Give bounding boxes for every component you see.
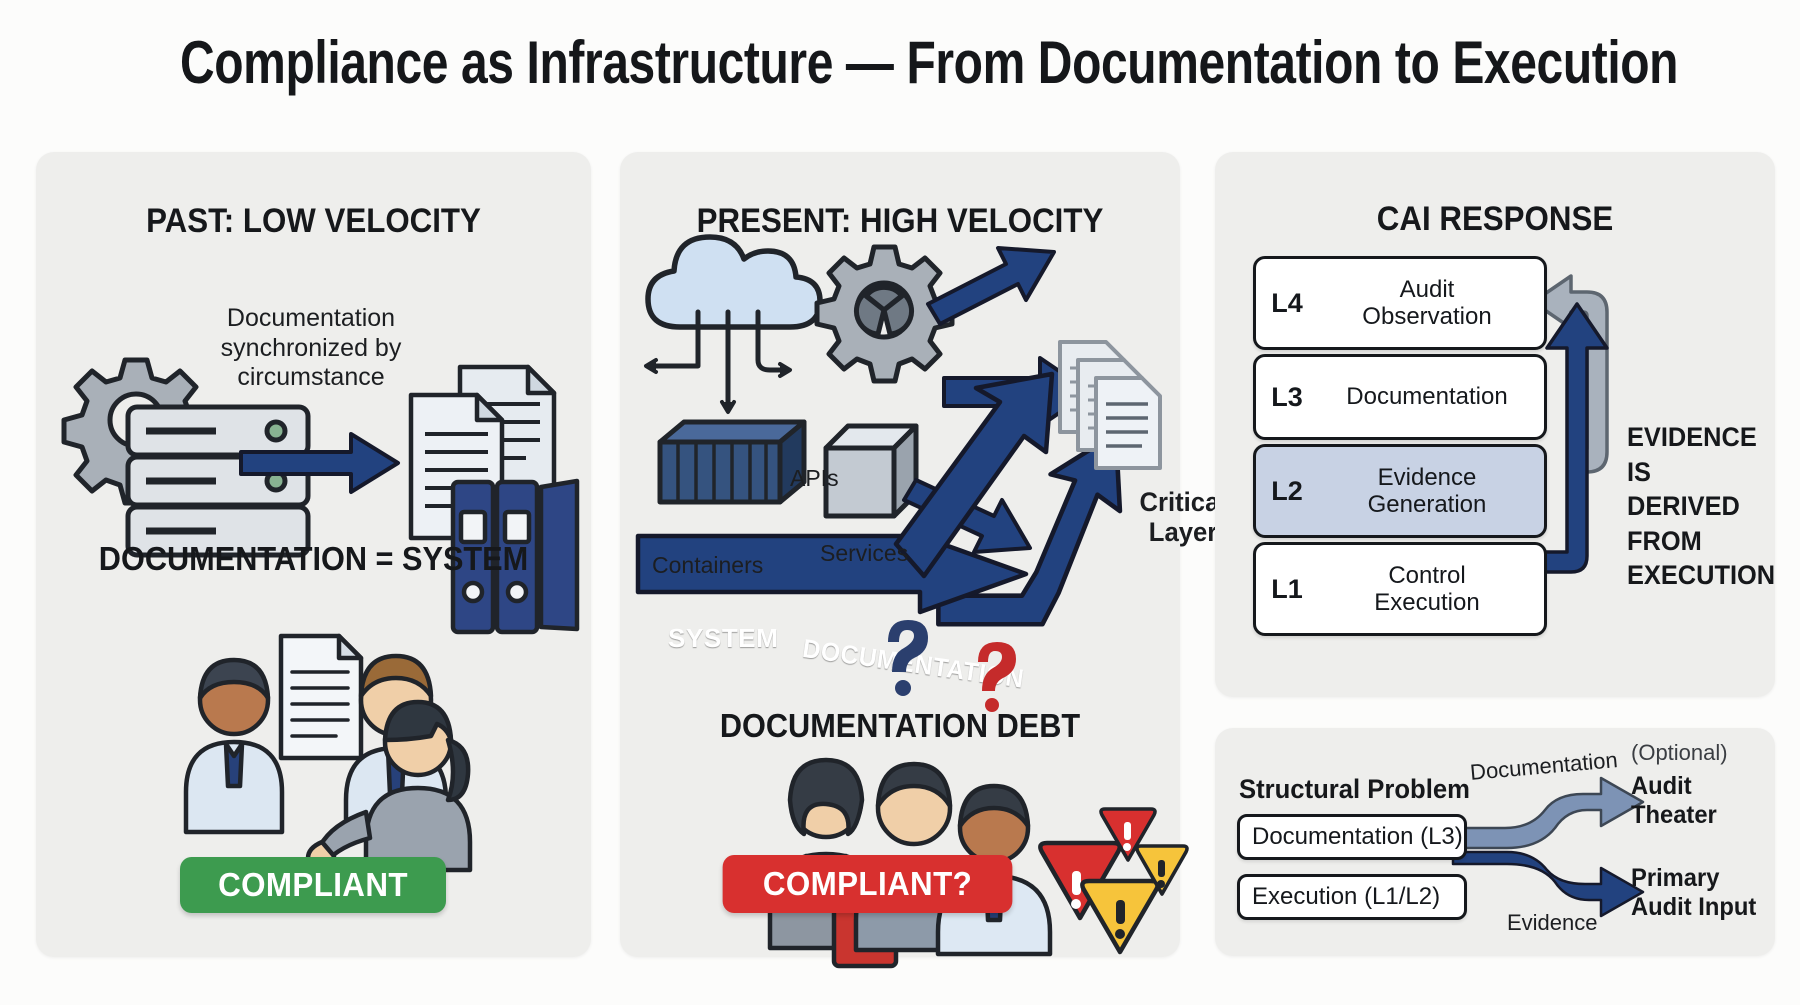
cai-layer-l3-code: L3 (1256, 382, 1318, 413)
cai-layer-l2-line-2: Generation (1318, 491, 1536, 518)
cai-side-note-line-2: DERIVED (1627, 489, 1775, 524)
structural-box-execution[interactable]: Execution (L1/L2) (1237, 874, 1467, 920)
cai-layer-l1-label: Control Execution (1318, 562, 1544, 616)
infographic-canvas: Compliance as Infrastructure — From Docu… (0, 0, 1800, 1005)
cai-layer-l2-line-1: Evidence (1318, 464, 1536, 491)
past-note: Documentation synchronized by circumstan… (181, 304, 441, 393)
past-note-line-3: circumstance (181, 363, 441, 393)
present-compliant-badge[interactable]: COMPLIANT? (723, 855, 1013, 913)
cai-layer-l2-label: Evidence Generation (1318, 464, 1544, 518)
past-compliant-badge[interactable]: COMPLIANT (180, 857, 446, 913)
cai-layer-l4-code: L4 (1256, 288, 1318, 319)
present-label-services: Services (820, 540, 908, 567)
present-caption: DOCUMENTATION DEBT (640, 707, 1161, 745)
cai-layer-l4-line-2: Observation (1318, 303, 1536, 330)
warning-triangle-red-icon (1101, 809, 1155, 860)
present-compliant-badge-label: COMPLIANT? (763, 865, 972, 903)
structural-output-audit-theater: Audit Theater (1631, 772, 1717, 829)
structural-output-primary-audit-input: Primary Audit Input (1631, 864, 1756, 921)
service-cube-icon (826, 426, 916, 516)
structural-edge-label-evidence: Evidence (1507, 910, 1598, 936)
cai-layer-l1[interactable]: L1 Control Execution (1253, 542, 1547, 636)
structural-output-audit-theater-line-1: Audit (1631, 772, 1717, 801)
past-note-line-2: synchronized by (181, 334, 441, 364)
cai-layer-l1-line-2: Execution (1318, 589, 1536, 616)
panel-past-heading: PAST: LOW VELOCITY (58, 202, 569, 241)
cai-layer-l2-code: L2 (1256, 476, 1318, 507)
structural-problem-title: Structural Problem (1239, 774, 1470, 805)
past-caption: DOCUMENTATION = SYSTEM (55, 540, 571, 578)
panel-present-heading: PRESENT: HIGH VELOCITY (642, 202, 1157, 241)
cai-layer-l1-line-1: Control (1318, 562, 1536, 589)
three-people-reviewing-document-icon (186, 636, 470, 870)
api-arrows-icon (646, 312, 790, 412)
cai-side-note-line-3: FROM (1627, 524, 1775, 559)
panel-cai-heading: CAI RESPONSE (1237, 200, 1752, 239)
cai-layer-l3[interactable]: L3 Documentation (1253, 354, 1547, 440)
documents-and-binders-icon (411, 367, 577, 632)
warning-triangle-yellow-icon (1137, 846, 1187, 894)
container-icon (660, 422, 804, 502)
right-arrow-icon (241, 434, 398, 492)
structural-optional-label: (Optional) (1631, 740, 1728, 766)
structural-output-audit-theater-line-2: Theater (1631, 801, 1717, 830)
cai-layer-l3-label: Documentation (1318, 383, 1544, 410)
evidence-flow-arrow-icon (1453, 852, 1643, 916)
panel-structural-problem: Structural Problem Documentation (L3) Ex… (1215, 728, 1775, 956)
cai-side-note-line-1: EVIDENCE IS (1627, 420, 1775, 489)
cai-layer-l4-line-1: Audit (1318, 276, 1536, 303)
document-stack-icon (1060, 342, 1160, 468)
panel-cai-response: CAI RESPONSE L4 Audit Observation L3 Doc… (1215, 152, 1775, 697)
outflow-arrows-icon (904, 248, 1090, 552)
cloud-icon (648, 237, 820, 327)
band-label-system: SYSTEM (668, 623, 779, 654)
structural-output-primary-line-2: Audit Input (1631, 893, 1756, 922)
warning-triangle-red-icon (1040, 843, 1119, 918)
warning-triangle-yellow-icon (1082, 881, 1157, 952)
documentation-flow-arrow-icon (1453, 778, 1643, 848)
cai-layer-l2[interactable]: L2 Evidence Generation (1253, 444, 1547, 538)
cai-layer-l4-label: Audit Observation (1318, 276, 1544, 330)
cai-side-note-line-4: EXECUTION (1627, 558, 1775, 593)
band-label-documentation: DOCUMENTATION (801, 633, 1026, 695)
server-stack-icon (128, 407, 308, 555)
present-label-containers: Containers (652, 552, 763, 579)
system-documentation-arrows-icon (638, 374, 1120, 624)
cai-layer-l4[interactable]: L4 Audit Observation (1253, 256, 1547, 350)
present-label-apis: APIs (790, 465, 839, 492)
evidence-up-arrow-icon (1541, 304, 1607, 572)
panel-past-low-velocity: PAST: LOW VELOCITY Documentation synchro… (36, 152, 591, 957)
gear-icon (817, 247, 952, 381)
structural-box-documentation[interactable]: Documentation (L3) (1237, 814, 1467, 860)
cai-side-note: EVIDENCE IS DERIVED FROM EXECUTION (1627, 420, 1775, 593)
cai-layer-l1-code: L1 (1256, 574, 1318, 605)
past-compliant-badge-label: COMPLIANT (218, 866, 408, 904)
past-note-line-1: Documentation (181, 304, 441, 334)
structural-edge-label-documentation: Documentation (1469, 747, 1619, 786)
panel-present-high-velocity: PRESENT: HIGH VELOCITY (620, 152, 1180, 957)
structural-output-primary-line-1: Primary (1631, 864, 1756, 893)
page-title: Compliance as Infrastructure — From Docu… (180, 28, 1620, 97)
